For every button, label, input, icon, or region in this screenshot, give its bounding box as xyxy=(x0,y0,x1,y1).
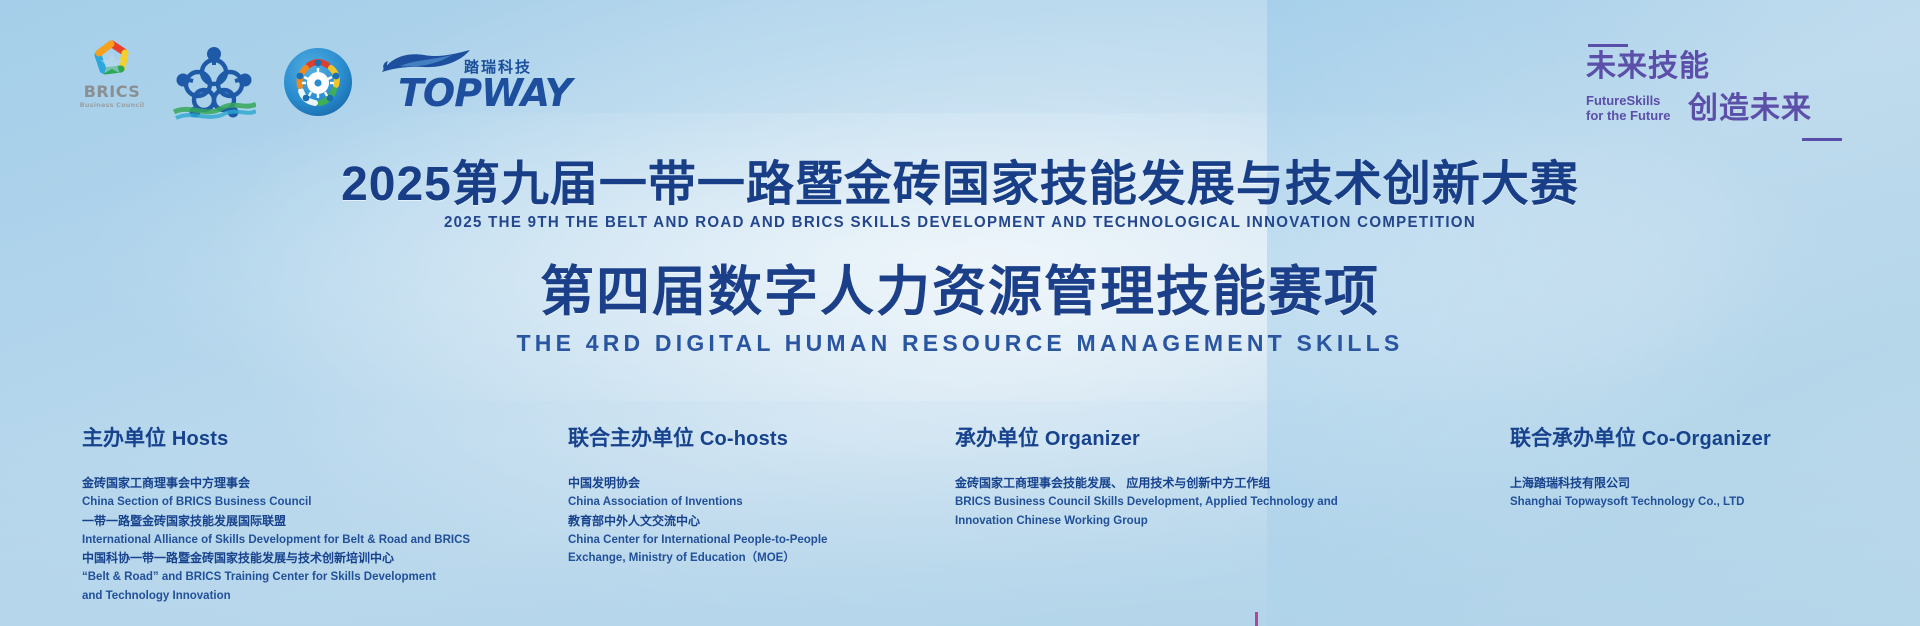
organizer-heading-cn: 主办单位 xyxy=(82,427,166,450)
partner-logo-strip: BRICS Business Council xyxy=(78,36,540,122)
skills-development-badge-logo xyxy=(282,42,354,122)
organizer-lines: 上海踏瑞科技有限公司 Shanghai Topwaysoft Technolog… xyxy=(1510,474,1910,512)
competition-banner: BRICS Business Council xyxy=(0,0,1920,626)
event-subtitle-en: THE 4RD DIGITAL HUMAN RESOURCE MANAGEMEN… xyxy=(0,330,1920,357)
organizer-heading-en: Organizer xyxy=(1045,428,1140,450)
event-subtitle-cn: 第四届数字人力资源管理技能赛项 xyxy=(0,262,1920,322)
organizer-lines: 金砖国家工商理事会技能发展、 应用技术与创新中方工作组 BRICS Busine… xyxy=(955,474,1385,530)
organizer-column-organizer: 承办单位 Organizer 金砖国家工商理事会技能发展、 应用技术与创新中方工… xyxy=(955,428,1385,530)
brics-business-council-logo: BRICS Business Council xyxy=(78,38,146,122)
organizer-line: Innovation Chinese Working Group xyxy=(955,512,1385,530)
banner-titles: 2025第九届一带一路暨金砖国家技能发展与技术创新大赛 2025 THE 9TH… xyxy=(0,158,1920,357)
skills-badge-icon xyxy=(282,46,354,118)
organizer-heading-cn: 联合承办单位 xyxy=(1510,427,1636,450)
main-title-cn: 2025第九届一带一路暨金砖国家技能发展与技术创新大赛 xyxy=(0,158,1920,212)
organizer-heading-en: Co-Organizer xyxy=(1642,428,1771,450)
slogan-en-line2: for the Future xyxy=(1586,108,1671,123)
organizer-column-co-organizer: 联合承办单位 Co-Organizer 上海踏瑞科技有限公司 Shanghai … xyxy=(1510,428,1910,512)
organizer-line: 中国科协一带一路暨金砖国家技能发展与技术创新培训中心 xyxy=(82,549,552,568)
organizer-line: and Technology Innovation xyxy=(82,587,552,605)
organizer-sections: 主办单位 Hosts 金砖国家工商理事会中方理事会 China Section … xyxy=(0,428,1920,618)
slogan-cn-line1: 未来技能 xyxy=(1586,52,1710,82)
organizer-lines: 金砖国家工商理事会中方理事会 China Section of BRICS Bu… xyxy=(82,474,552,605)
organizer-line: Shanghai Topwaysoft Technology Co., LTD xyxy=(1510,493,1910,511)
organizer-line: 中国发明协会 xyxy=(568,474,948,493)
organizer-heading-en: Co-hosts xyxy=(700,428,788,450)
slogan-en-line1: FutureSkills xyxy=(1586,93,1660,108)
organizer-line: BRICS Business Council Skills Developmen… xyxy=(955,493,1385,511)
organizer-line: Exchange, Ministry of Education（MOE） xyxy=(568,549,948,567)
organizer-line: “Belt & Road” and BRICS Training Center … xyxy=(82,568,552,586)
topway-wordmark: TOPWAY xyxy=(398,74,571,112)
organizer-line: China Center for International People-to… xyxy=(568,531,948,549)
topway-logo: 踏瑞科技 TOPWAY xyxy=(380,42,540,122)
organizer-heading: 承办单位 Organizer xyxy=(955,428,1385,449)
alliance-knot-icon xyxy=(172,38,256,122)
organizer-line: 上海踏瑞科技有限公司 xyxy=(1510,474,1910,493)
organizer-column-co-hosts: 联合主办单位 Co-hosts 中国发明协会 China Association… xyxy=(568,428,948,568)
organizer-line: 金砖国家工商理事会中方理事会 xyxy=(82,474,552,493)
brics-wordmark: BRICS xyxy=(84,84,141,100)
bottom-marker-tick xyxy=(1255,612,1258,626)
organizer-line: International Alliance of Skills Develop… xyxy=(82,531,552,549)
organizer-heading: 联合主办单位 Co-hosts xyxy=(568,428,948,449)
organizer-heading: 联合承办单位 Co-Organizer xyxy=(1510,428,1910,449)
slogan-cn-line2: 创造未来 xyxy=(1688,94,1812,124)
organizer-line: 一带一路暨金砖国家技能发展国际联盟 xyxy=(82,512,552,531)
future-skills-slogan: 未来技能 FutureSkillsfor the Future 创造未来 xyxy=(1566,32,1856,142)
main-title-en: 2025 THE 9TH THE BELT AND ROAD AND BRICS… xyxy=(29,214,1891,232)
belt-and-road-brics-skills-alliance-logo xyxy=(172,38,256,122)
organizer-heading-en: Hosts xyxy=(172,428,229,450)
slogan-en: FutureSkillsfor the Future xyxy=(1586,94,1671,124)
slogan-bottom-rule xyxy=(1802,138,1842,141)
organizer-line: China Section of BRICS Business Council xyxy=(82,493,552,511)
organizer-column-hosts: 主办单位 Hosts 金砖国家工商理事会中方理事会 China Section … xyxy=(82,428,552,605)
organizer-heading-cn: 承办单位 xyxy=(955,427,1039,450)
organizer-lines: 中国发明协会 China Association of Inventions 教… xyxy=(568,474,948,568)
organizer-line: 教育部中外人文交流中心 xyxy=(568,512,948,531)
brics-subtitle: Business Council xyxy=(80,102,145,109)
slogan-top-rule xyxy=(1588,44,1628,47)
organizer-heading: 主办单位 Hosts xyxy=(82,428,552,449)
organizer-heading-cn: 联合主办单位 xyxy=(568,427,694,450)
organizer-line: China Association of Inventions xyxy=(568,493,948,511)
brics-star-icon xyxy=(89,38,135,82)
organizer-line: 金砖国家工商理事会技能发展、 应用技术与创新中方工作组 xyxy=(955,474,1385,493)
